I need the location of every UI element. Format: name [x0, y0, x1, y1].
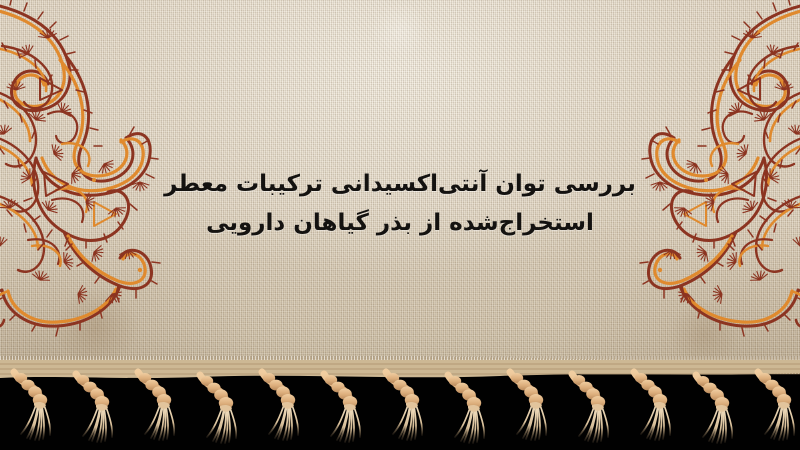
knotted-tassel-fringe	[0, 360, 800, 450]
tassel-row	[14, 372, 794, 443]
title-line-1: بررسی توان آنتی‌اکسیدانی ترکیبات معطر	[150, 165, 650, 204]
title-line-2: استخراج‌شده از بذر گیاهان دارویی	[150, 204, 650, 243]
presentation-slide: بررسی توان آنتی‌اکسیدانی ترکیبات معطر اس…	[0, 0, 800, 450]
slide-title: بررسی توان آنتی‌اکسیدانی ترکیبات معطر اس…	[0, 165, 800, 242]
